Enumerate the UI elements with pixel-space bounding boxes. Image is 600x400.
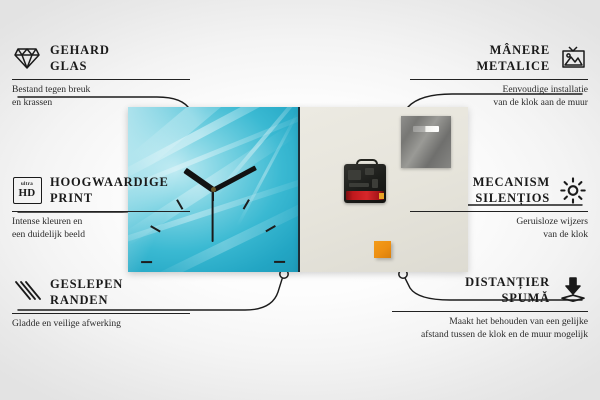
diamond-icon [12, 43, 42, 73]
feature-description: Intense kleuren eneen duidelijk beeld [12, 216, 190, 241]
feature-hoogwaardige-print: ultra HD HOOGWAARDIGEPRINT Intense kleur… [12, 172, 190, 241]
feature-heading: MECANISMSILENȚIOS [410, 172, 588, 208]
mechanism-detail [349, 183, 369, 187]
mechanism-battery [346, 191, 384, 200]
mechanism-detail [365, 168, 374, 175]
feature-divider [410, 211, 588, 212]
feature-title: MÂNEREMETALICE [476, 42, 550, 74]
feature-heading: ultra HD HOOGWAARDIGEPRINT [12, 172, 190, 208]
feature-heading: GEHARDGLAS [12, 40, 190, 76]
clock-tick [265, 225, 276, 232]
feature-divider [12, 211, 190, 212]
beveled-edges-icon [12, 277, 42, 307]
feature-description: Eenvoudige installatievan de klok aan de… [410, 84, 588, 109]
ultra-hd-icon-bottom-text: HD [19, 188, 36, 199]
foam-spacer [374, 241, 391, 258]
feature-divider [12, 79, 190, 80]
mechanism-detail [348, 170, 361, 180]
feature-description: Gladde en veilige afwerking [12, 318, 190, 331]
mechanism-detail [372, 179, 378, 188]
feature-description: Maakt het behouden van een gelijkeafstan… [392, 316, 588, 341]
ultra-hd-icon: ultra HD [12, 175, 42, 205]
feature-title: GESLEPENRANDEN [50, 276, 123, 308]
clock-second-hand [212, 190, 214, 242]
battery-terminal [379, 193, 384, 199]
feature-description: Bestand tegen breuken krassen [12, 84, 190, 109]
clock-tick [274, 260, 285, 262]
feature-mecanism-silentios: MECANISMSILENȚIOS Geruisloze wijzersvan … [410, 172, 588, 241]
feature-heading: DISTANȚIERSPUMĂ [392, 272, 588, 308]
feature-heading: GESLEPENRANDEN [12, 274, 190, 310]
clock-hand-cap [211, 187, 216, 192]
feature-description: Geruisloze wijzersvan de klok [410, 216, 588, 241]
feature-geslepen-randen: GESLEPENRANDEN Gladde en veilige afwerki… [12, 274, 190, 331]
feature-title: HOOGWAARDIGEPRINT [50, 174, 169, 206]
infographic-canvas: GEHARDGLAS Bestand tegen breuken krassen… [0, 0, 600, 400]
feature-divider [410, 79, 588, 80]
foam-spacer-icon [558, 275, 588, 305]
clock-mechanism [344, 159, 386, 203]
feature-title: MECANISMSILENȚIOS [473, 174, 550, 206]
feature-title: DISTANȚIERSPUMĂ [465, 274, 550, 306]
feature-heading: MÂNEREMETALICE [410, 40, 588, 76]
hanger-slot [413, 126, 439, 132]
metal-hanger-plate [401, 116, 451, 168]
ultra-hd-icon-top-text: ultra [21, 182, 33, 187]
feature-divider [12, 313, 190, 314]
feature-distantier-spuma: DISTANȚIERSPUMĂ Maakt het behouden van e… [392, 272, 588, 341]
feature-divider [392, 311, 588, 312]
clock-tick [243, 199, 250, 210]
feature-gehard-glas: GEHARDGLAS Bestand tegen breuken krassen [12, 40, 190, 109]
gear-icon [558, 175, 588, 205]
feature-title: GEHARDGLAS [50, 42, 110, 74]
clock-minute-hand [212, 165, 256, 192]
clock-tick [141, 260, 152, 262]
mechanism-body [344, 164, 386, 203]
picture-hanger-icon [558, 43, 588, 73]
feature-manere-metalice: MÂNEREMETALICE Eenvoudige installatievan… [410, 40, 588, 109]
